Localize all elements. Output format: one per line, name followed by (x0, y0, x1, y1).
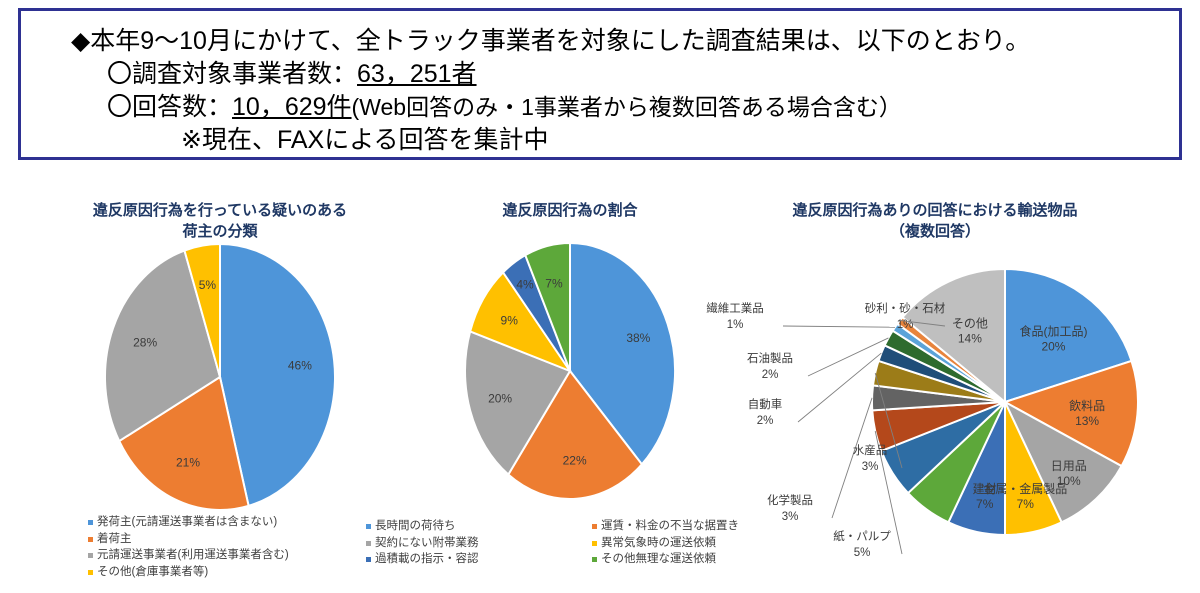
chart3-outside-label: 砂利・砂・石材 (865, 301, 946, 315)
chart3-outside-value: 1% (727, 319, 744, 331)
legend-bullet-icon (88, 570, 93, 575)
chart3-slice-value: 13% (1075, 414, 1099, 428)
chart1-legend-label: 着荷主 (97, 531, 132, 548)
chart1-slice-value: 21% (176, 455, 200, 469)
chart2-slice-value: 38% (626, 331, 650, 345)
legend-bullet-icon (88, 553, 93, 558)
chart3-outside-label: 化学製品 (767, 493, 813, 507)
chart3-outside-label: 水産品 (853, 443, 888, 457)
header-line-3-note: (Web回答のみ・1事業者から複数回答ある場合含む） (352, 94, 902, 120)
chart3-slice-label: 食品(加工品) (1019, 323, 1087, 338)
chart1-title-line-1: 違反原因行為を行っている疑いのある (40, 200, 400, 221)
chart2-slice-value: 22% (563, 453, 587, 467)
header-line-3-label: 〇回答数： (107, 93, 232, 121)
chart3-leader-line (832, 398, 872, 518)
chart3-outside-value: 2% (762, 369, 779, 381)
header-line-2: 〇調査対象事業者数：63，251者 (21, 58, 1179, 91)
chart2-legend-label: 長時間の荷待ち (375, 518, 456, 535)
chart1-legend-item[interactable]: その他(倉庫事業者等) (88, 564, 289, 581)
chart2-legend-item[interactable]: 契約にない附帯業務 (366, 535, 479, 552)
chart3-outside-label: 石油製品 (747, 351, 793, 365)
chart3-outside-value: 3% (782, 511, 799, 523)
chart2-legend-column-1: 長時間の荷待ち契約にない附帯業務過積載の指示・容認 (366, 518, 479, 568)
chart1-slice-value: 46% (288, 358, 312, 372)
chart3-title: 違反原因行為ありの回答における輸送物品 （複数回答） (680, 200, 1190, 242)
chart3-outside-label: 紙・パルプ (833, 529, 891, 543)
legend-bullet-icon (366, 557, 371, 562)
header-line-2-label: 〇調査対象事業者数： (107, 60, 357, 88)
chart1-legend-item[interactable]: 着荷主 (88, 531, 289, 548)
chart-panel-transported-goods: 違反原因行為ありの回答における輸送物品 （複数回答） 食品(加工品)20%飲料品… (680, 200, 1190, 577)
chart3-pie-area: 食品(加工品)20%飲料品13%日用品10%金属・金属製品7%建材7%農産品6%… (680, 242, 1190, 577)
legend-bullet-icon (592, 524, 597, 529)
chart3-outside-value: 2% (757, 415, 774, 427)
header-line-2-value: 63，251者 (357, 60, 477, 88)
chart2-slice-value: 20% (488, 392, 512, 406)
chart3-title-line-2: （複数回答） (680, 221, 1190, 242)
legend-bullet-icon (366, 541, 371, 546)
chart1-title-line-2: 荷主の分類 (40, 221, 400, 242)
chart1-legend-label: 元請運送事業者(利用運送事業者含む) (97, 547, 289, 564)
legend-bullet-icon (88, 537, 93, 542)
chart1-pie-area: 46%21%28%5% (40, 242, 400, 517)
chart1-legend-item[interactable]: 元請運送事業者(利用運送事業者含む) (88, 547, 289, 564)
legend-bullet-icon (592, 541, 597, 546)
chart1-slice-value: 5% (199, 278, 217, 292)
chart3-slice-value: 7% (976, 497, 994, 511)
chart1-legend-label: その他(倉庫事業者等) (97, 564, 208, 581)
chart3-slice-label: 飲料品 (1069, 398, 1105, 413)
chart3-outside-label: 自動車 (748, 397, 783, 411)
legend-bullet-icon (88, 520, 93, 525)
chart3-slice-label: 建材 (973, 482, 997, 496)
legend-bullet-icon (366, 524, 371, 529)
chart3-leader-line (798, 353, 881, 422)
chart3-pie-svg: 食品(加工品)20%飲料品13%日用品10%金属・金属製品7%建材7%農産品6%… (680, 242, 1190, 572)
header-line-3-value: 10，629件 (232, 93, 352, 121)
chart-panel-shipper-classification: 違反原因行為を行っている疑いのある 荷主の分類 46%21%28%5% (40, 200, 400, 517)
chart1-legend-label: 発荷主(元請運送事業者は含まない) (97, 514, 277, 531)
chart3-title-line-1: 違反原因行為ありの回答における輸送物品 (680, 200, 1190, 221)
chart2-legend-item[interactable]: 長時間の荷待ち (366, 518, 479, 535)
chart2-legend-label: 契約にない附帯業務 (375, 535, 479, 552)
header-callout-box: ◆本年9～10月にかけて、全トラック事業者を対象にした調査結果は、以下のとおり。… (18, 8, 1182, 160)
chart2-legend-label: 過積載の指示・容認 (375, 551, 479, 568)
chart2-slice-value: 7% (545, 277, 563, 291)
chart3-slice-label: 日用品 (1051, 459, 1087, 473)
chart3-slice-value: 20% (1041, 339, 1065, 353)
header-line-3: 〇回答数：10，629件(Web回答のみ・1事業者から複数回答ある場合含む） (21, 91, 1179, 124)
chart3-slice-value: 7% (1017, 497, 1035, 511)
legend-bullet-icon (592, 557, 597, 562)
chart3-slice-label: その他 (952, 316, 988, 330)
chart1-legend-item[interactable]: 発荷主(元請運送事業者は含まない) (88, 514, 289, 531)
chart2-slice-value: 9% (501, 314, 519, 328)
chart3-slice-value: 14% (958, 331, 982, 345)
chart3-outside-value: 5% (854, 547, 871, 559)
header-text-block: ◆本年9～10月にかけて、全トラック事業者を対象にした調査結果は、以下のとおり。… (21, 11, 1179, 157)
chart1-slice-value: 28% (133, 336, 157, 350)
chart3-outside-label: 繊維工業品 (706, 302, 764, 315)
header-line-1: ◆本年9～10月にかけて、全トラック事業者を対象にした調査結果は、以下のとおり。 (21, 25, 1179, 58)
chart2-slice-value: 4% (516, 278, 534, 292)
chart1-legend: 発荷主(元請運送事業者は含まない)着荷主元請運送事業者(利用運送事業者含む)その… (88, 514, 289, 580)
header-line-4: ※現在、FAXによる回答を集計中 (21, 124, 1179, 157)
chart3-outside-value: 3% (862, 461, 879, 473)
chart3-leader-line (783, 326, 895, 327)
chart1-title: 違反原因行為を行っている疑いのある 荷主の分類 (40, 200, 400, 242)
chart1-pie-svg: 46%21%28%5% (40, 242, 400, 512)
chart2-legend-item[interactable]: 過積載の指示・容認 (366, 551, 479, 568)
